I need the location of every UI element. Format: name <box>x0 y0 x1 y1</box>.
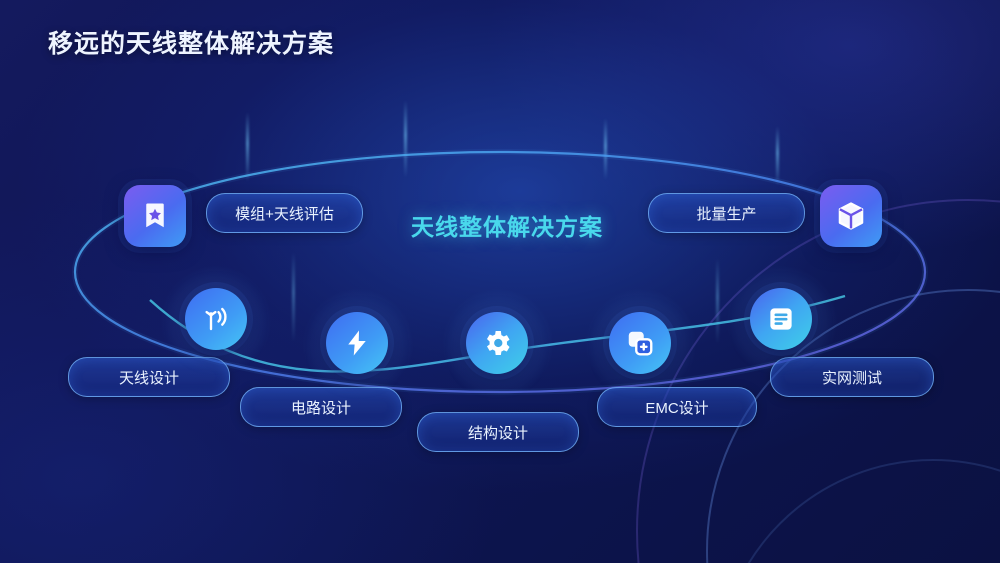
pill-label: EMC设计 <box>645 397 708 418</box>
flow-diagram-svg <box>0 0 1000 563</box>
node-emc-design[interactable] <box>609 312 671 374</box>
pill-label: 实网测试 <box>822 367 882 388</box>
pill-module-antenna-eval[interactable]: 模组+天线评估 <box>206 193 363 233</box>
pill-circuit-design[interactable]: 电路设计 <box>240 387 402 427</box>
node-circuit-design[interactable] <box>326 312 388 374</box>
badge-star-icon <box>140 201 170 231</box>
node-structure-design[interactable] <box>466 312 528 374</box>
pill-label: 批量生产 <box>696 203 756 224</box>
node-badge-star[interactable] <box>124 185 186 247</box>
node-mass-production[interactable] <box>820 185 882 247</box>
document-lines-icon <box>766 304 796 334</box>
pill-label: 电路设计 <box>291 397 351 418</box>
node-antenna-design[interactable] <box>185 288 247 350</box>
pill-antenna-design[interactable]: 天线设计 <box>68 357 230 397</box>
pill-field-test[interactable]: 实网测试 <box>770 357 934 397</box>
pill-structure-design[interactable]: 结构设计 <box>417 412 579 452</box>
lightning-bolt-icon <box>342 328 372 358</box>
emc-chip-icon <box>625 328 655 358</box>
cube-box-icon <box>835 200 867 232</box>
pill-label: 天线设计 <box>119 367 179 388</box>
pill-label: 结构设计 <box>468 422 528 443</box>
node-field-test[interactable] <box>750 288 812 350</box>
pill-label: 模组+天线评估 <box>235 203 334 224</box>
pill-mass-production[interactable]: 批量生产 <box>648 193 805 233</box>
antenna-signal-icon <box>201 304 231 334</box>
slide-canvas: 移远的天线整体解决方案 天线整体解决方案 模组+天线评估 批量生产 <box>0 0 1000 563</box>
center-title: 天线整体解决方案 <box>382 208 632 242</box>
gear-icon <box>481 327 513 359</box>
pill-emc-design[interactable]: EMC设计 <box>597 387 757 427</box>
